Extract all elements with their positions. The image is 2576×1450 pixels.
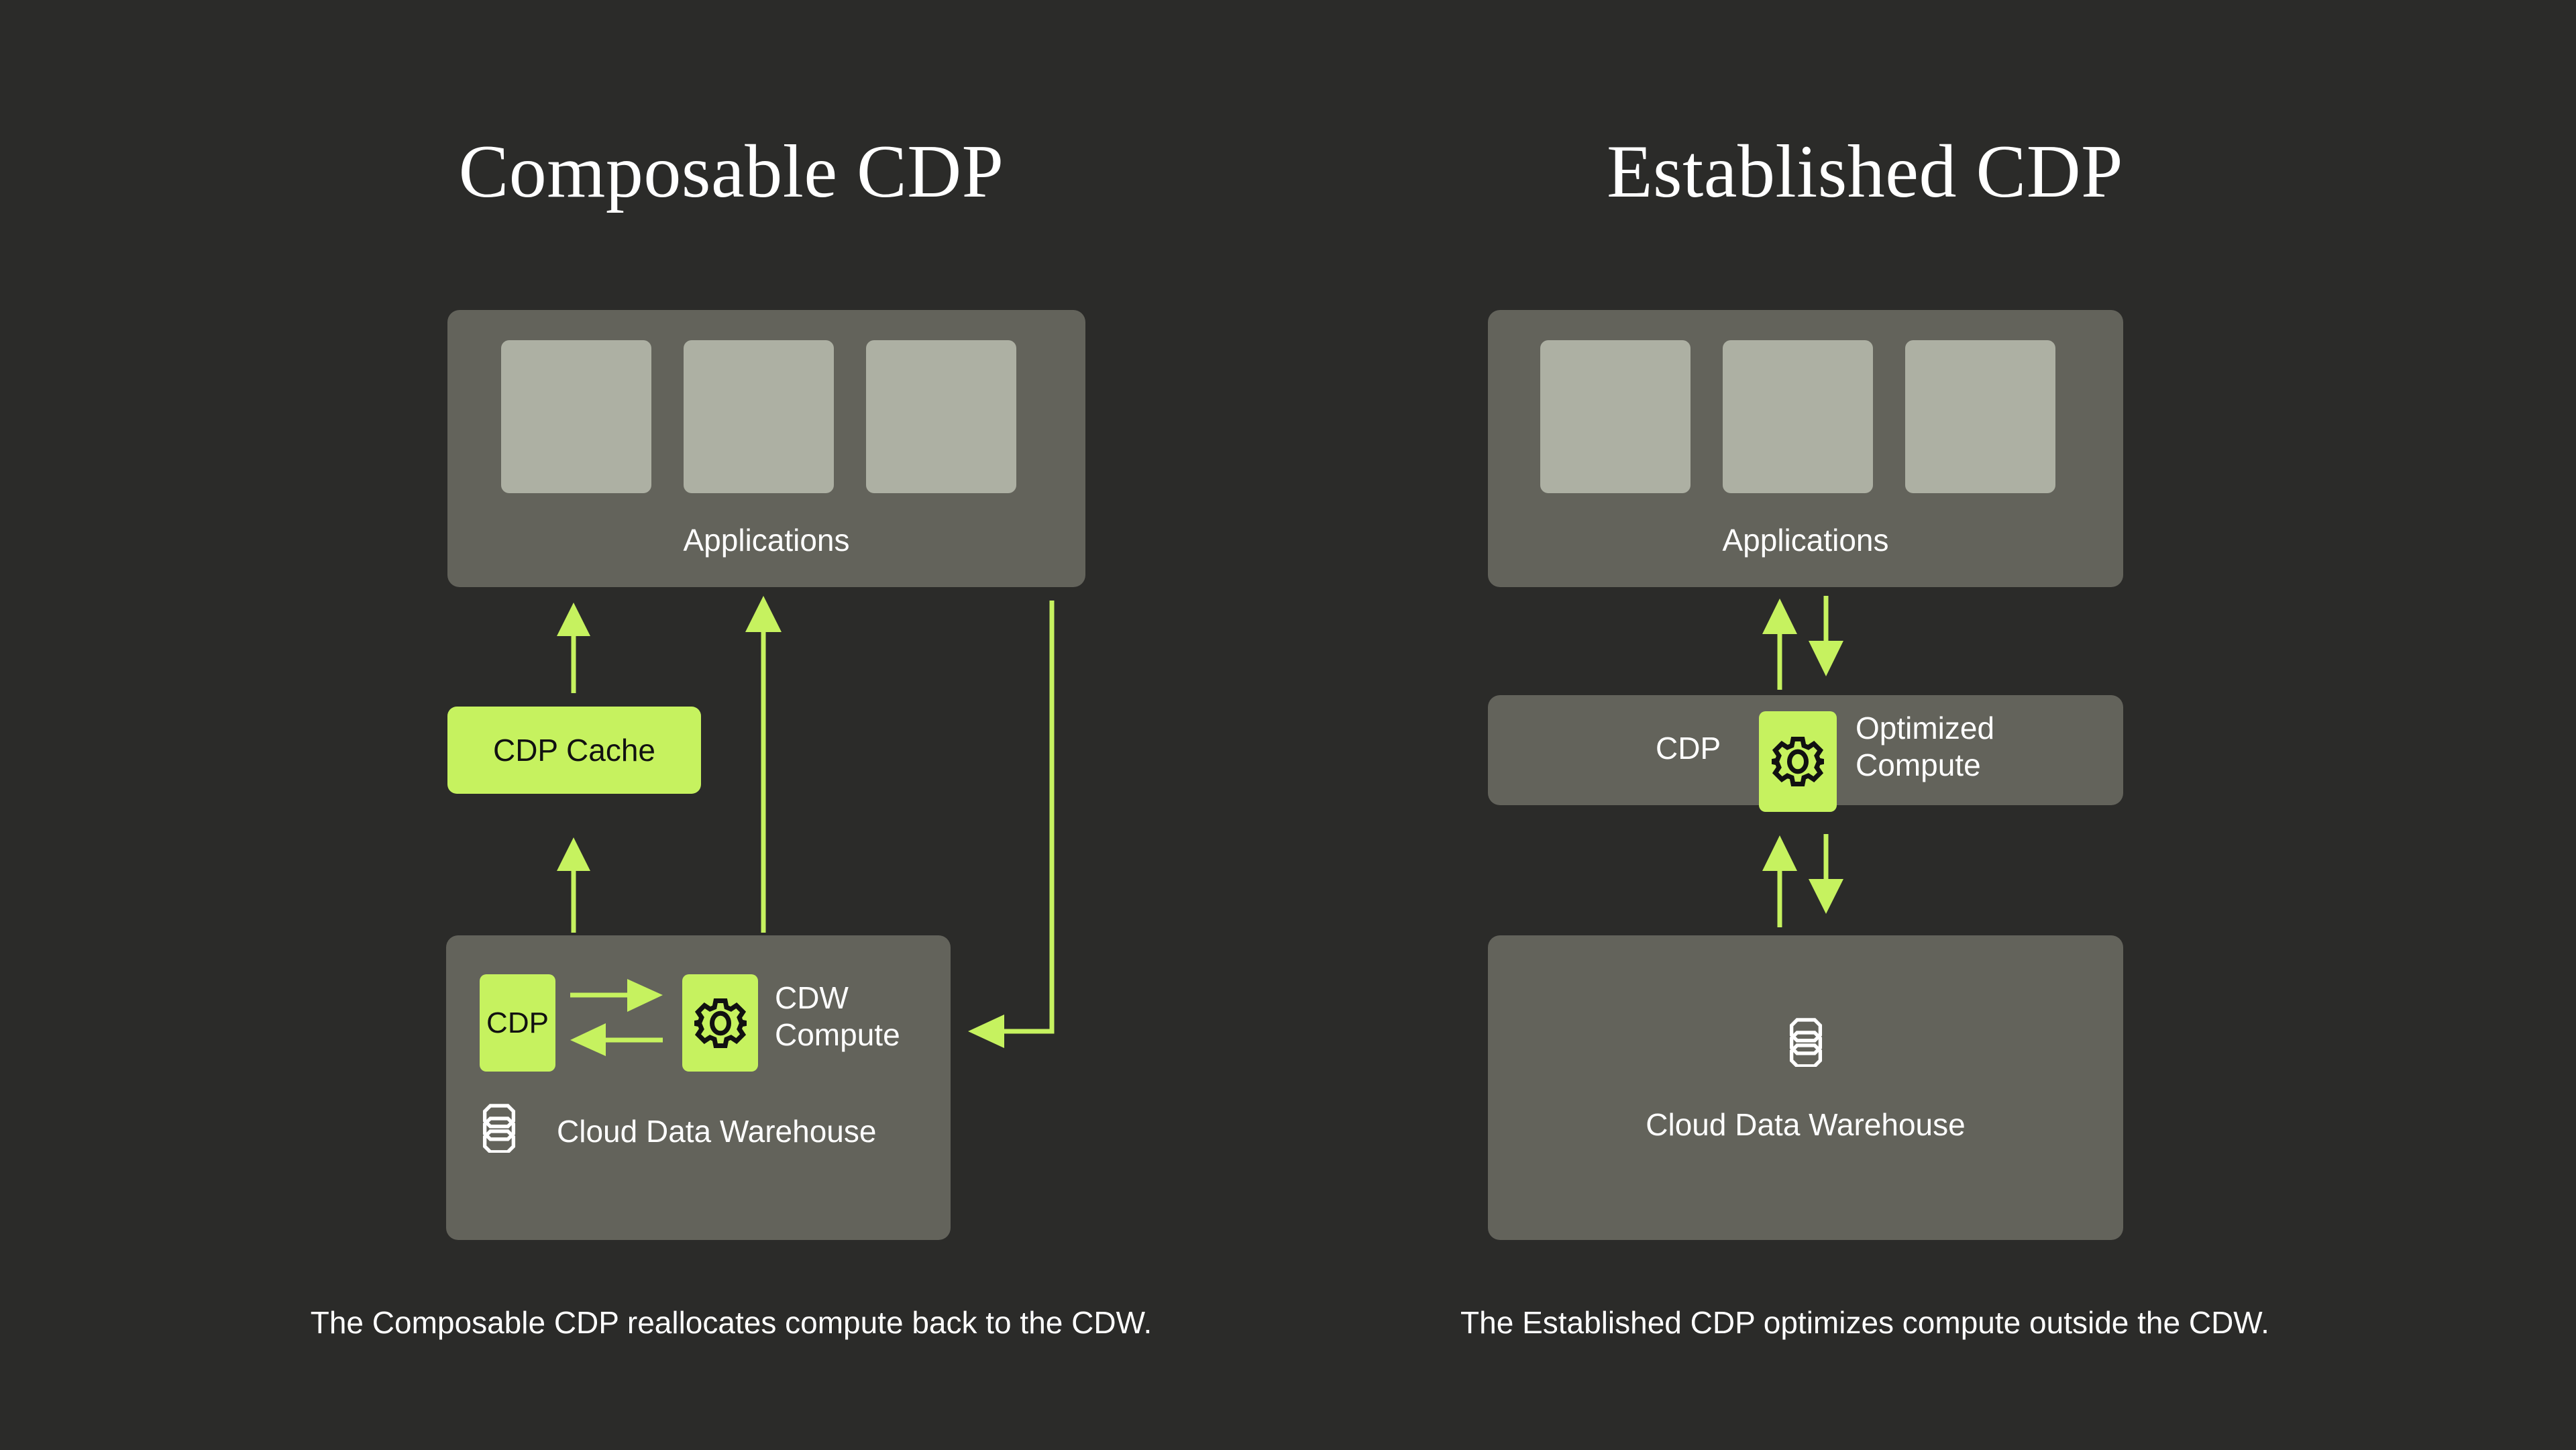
arrow-applications-to-cdp bbox=[1809, 596, 1843, 676]
arrow-cdw-to-applications bbox=[745, 596, 782, 933]
right-cdw-warehouse-label: Cloud Data Warehouse bbox=[1488, 1106, 2123, 1143]
app-tile bbox=[1905, 340, 2055, 493]
left-cdw-box: CDP CDW Compute Cloud Data War bbox=[446, 935, 951, 1240]
database-icon bbox=[1785, 1016, 1827, 1067]
left-cdw-cdp-block: CDP bbox=[480, 974, 555, 1072]
app-tile bbox=[1540, 340, 1690, 493]
left-applications-label: Applications bbox=[447, 522, 1085, 558]
app-tile bbox=[684, 340, 834, 493]
left-cdw-cdp-label: CDP bbox=[486, 1006, 549, 1040]
right-optimized-compute-block bbox=[1759, 711, 1837, 812]
arrow-cache-to-applications bbox=[557, 603, 590, 693]
right-cdp-label: CDP bbox=[1656, 730, 1721, 767]
arrow-cdw-to-cdp bbox=[1762, 835, 1797, 927]
right-cdw-box: Cloud Data Warehouse bbox=[1488, 935, 2123, 1240]
app-tile bbox=[1723, 340, 1873, 493]
right-applications-label: Applications bbox=[1488, 522, 2123, 558]
left-cdw-warehouse-label: Cloud Data Warehouse bbox=[557, 1113, 876, 1150]
left-cdp-cache-box: CDP Cache bbox=[447, 707, 701, 794]
left-cdp-cache-label: CDP Cache bbox=[493, 732, 655, 768]
left-cdw-compute-label: CDW Compute bbox=[775, 980, 900, 1053]
right-panel-title: Established CDP bbox=[1154, 134, 2576, 209]
gear-icon bbox=[1772, 735, 1824, 788]
left-cdw-compute-block bbox=[682, 974, 758, 1072]
gear-icon bbox=[694, 997, 747, 1049]
right-cdp-box: CDP Optimized Compute bbox=[1488, 695, 2123, 805]
arrow-layer bbox=[0, 0, 2576, 1450]
arrow-cdw-to-cache bbox=[557, 837, 590, 933]
arrow-applications-to-cdw-compute bbox=[968, 601, 1052, 1048]
app-tile bbox=[501, 340, 651, 493]
right-optimized-compute-label: Optimized Compute bbox=[1856, 710, 1994, 784]
arrow-cdp-to-applications bbox=[1762, 599, 1797, 690]
right-panel-caption: The Established CDP optimizes compute ou… bbox=[1154, 1304, 2576, 1341]
app-tile bbox=[866, 340, 1016, 493]
diagram-canvas: Composable CDP Established CDP Applicati… bbox=[0, 0, 2576, 1450]
arrow-cdp-to-cdw bbox=[1809, 834, 1843, 914]
database-icon bbox=[478, 1102, 520, 1153]
